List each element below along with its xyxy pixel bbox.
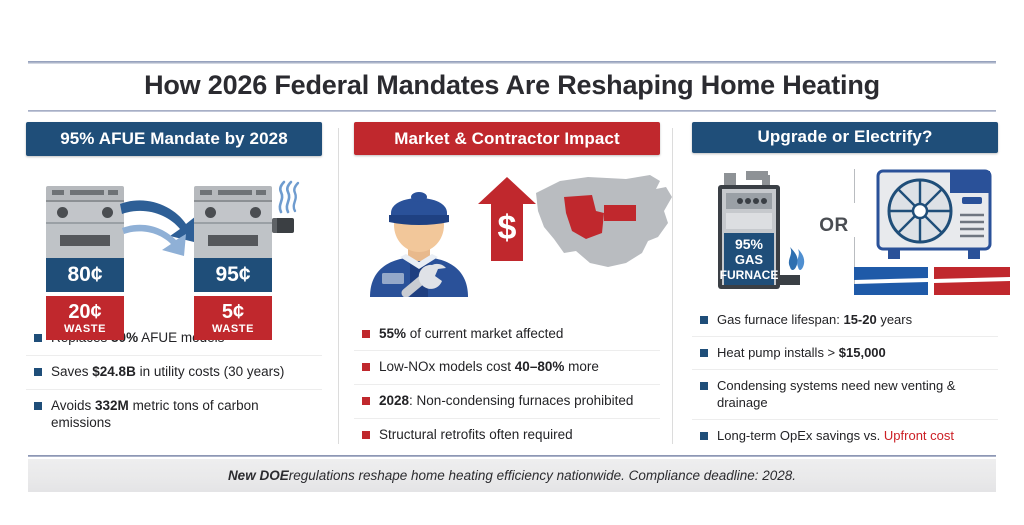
bullet-text: Condensing systems need new venting & dr…	[717, 378, 998, 411]
upgrade-or-electrify-graphic: 95% GAS FURNACE OR	[692, 153, 998, 298]
new-furnace-body: 95¢	[194, 186, 272, 292]
list-item: Long-term OpEx savings vs. Upfront cost	[692, 419, 998, 452]
furnace-mid-panel	[46, 224, 124, 258]
bullet-marker-icon	[362, 363, 370, 371]
efficiency-comparison-bars	[854, 265, 1010, 299]
list-item: Condensing systems need new venting & dr…	[692, 369, 998, 419]
svg-text:GAS: GAS	[735, 252, 764, 267]
bullet-text: Structural retrofits often required	[379, 427, 573, 444]
bullet-text: Long-term OpEx savings vs. Upfront cost	[717, 428, 954, 444]
bullet-marker-icon	[34, 368, 42, 376]
footer-note: New DOE regulations reshape home heating…	[28, 459, 996, 492]
furnace-knob-left-icon	[57, 207, 68, 218]
or-label: OR	[814, 215, 854, 237]
bullet-text: Low-NOx models cost 40–80% more	[379, 359, 599, 376]
new-furnace-unit: 95¢ 5¢ WASTE	[194, 186, 272, 340]
list-item: 55% of current market affected	[354, 318, 660, 351]
contractor-cost-map-graphic: $	[354, 155, 660, 311]
upgrade-bullet-list: Gas furnace lifespan: 15-20 years Heat p…	[692, 298, 998, 452]
list-item: Heat pump installs > $15,000	[692, 336, 998, 369]
old-furnace-efficiency-value: 80¢	[46, 258, 124, 292]
furnace-top-vents-icon	[46, 186, 124, 202]
page-title: How 2026 Federal Mandates Are Reshaping …	[0, 70, 1024, 101]
steam-vent-icon	[276, 180, 302, 214]
list-item: 2028: Non-condensing furnaces prohibited	[354, 384, 660, 418]
column-market-impact: Market & Contractor Impact	[338, 122, 676, 452]
list-item: Low-NOx models cost 40–80% more	[354, 350, 660, 384]
bullet-marker-icon	[34, 402, 42, 410]
heat-pump-unit-icon	[874, 163, 998, 267]
infographic-page: How 2026 Federal Mandates Are Reshaping …	[0, 0, 1024, 525]
new-furnace-waste-value: 5¢	[222, 302, 244, 322]
new-furnace-waste-label: WASTE	[212, 324, 254, 335]
red-up-arrow-dollar-icon: $	[478, 177, 536, 261]
furnace-slot-icon	[208, 235, 258, 246]
gas-furnace-icon: 95% GAS FURNACE	[710, 171, 814, 297]
list-item: Structural retrofits often required	[354, 418, 660, 452]
footer-divider-rule	[28, 455, 996, 457]
market-bullet-list: 55% of current market affected Low-NOx m…	[354, 312, 660, 453]
furnace-slot-icon	[60, 235, 110, 246]
us-map-icon	[530, 167, 678, 279]
bullet-marker-icon	[700, 316, 708, 324]
old-furnace-body: 80¢	[46, 186, 124, 292]
column-header-market-impact: Market & Contractor Impact	[354, 122, 660, 155]
furnace-knob-left-icon	[205, 207, 216, 218]
bullet-text: Avoids 332M metric tons of carbon emissi…	[51, 398, 322, 432]
bullet-text: 55% of current market affected	[379, 326, 563, 343]
furnace-knob-right-icon	[250, 207, 261, 218]
new-furnace-waste-block: 5¢ WASTE	[194, 296, 272, 340]
column-header-afue-mandate: 95% AFUE Mandate by 2028	[26, 122, 322, 156]
svg-text:95%: 95%	[735, 236, 764, 252]
bullet-text: Gas furnace lifespan: 15-20 years	[717, 312, 912, 328]
column-upgrade-electrify: Upgrade or Electrify? 95%	[676, 122, 1024, 452]
bullet-text: Saves $24.8B in utility costs (30 years)	[51, 364, 284, 381]
bullet-text: 2028: Non-condensing furnaces prohibited	[379, 393, 633, 410]
furnace-vent-tab-icon	[108, 190, 118, 195]
furnace-top-vents-icon	[194, 186, 272, 202]
upgrade-arrow-icon	[118, 198, 204, 262]
column-header-upgrade-electrify: Upgrade or Electrify?	[692, 122, 998, 153]
bullet-marker-icon	[362, 397, 370, 405]
new-furnace-efficiency-value: 95¢	[194, 258, 272, 292]
bullet-marker-icon	[34, 334, 42, 342]
footer-lead: New DOE	[228, 468, 289, 483]
bullet-marker-icon	[362, 330, 370, 338]
column-afue-mandate: 95% AFUE Mandate by 2028	[0, 122, 338, 452]
old-furnace-waste-label: WASTE	[64, 324, 106, 335]
old-furnace-waste-block: 20¢ WASTE	[46, 296, 124, 340]
top-divider-rule	[28, 61, 996, 64]
bullet-marker-icon	[700, 382, 708, 390]
exhaust-pipe-icon	[272, 218, 294, 233]
furnace-control-face	[46, 202, 124, 224]
bullet-text: Heat pump installs > $15,000	[717, 345, 886, 361]
furnace-vent-tab-icon	[256, 190, 266, 195]
hvac-technician-icon	[360, 173, 478, 297]
columns-container: 95% AFUE Mandate by 2028	[0, 122, 1024, 452]
svg-text:$: $	[498, 209, 517, 247]
furnace-control-face	[194, 202, 272, 224]
footer-rest: regulations reshape home heating efficie…	[289, 468, 796, 483]
bullet-marker-icon	[362, 431, 370, 439]
list-item: Saves $24.8B in utility costs (30 years)	[26, 355, 322, 389]
old-furnace-unit: 80¢ 20¢ WASTE	[46, 186, 124, 340]
bullet-marker-icon	[700, 349, 708, 357]
furnace-knob-right-icon	[102, 207, 113, 218]
list-item: Avoids 332M metric tons of carbon emissi…	[26, 389, 322, 440]
svg-text:FURNACE: FURNACE	[720, 268, 779, 282]
list-item: Gas furnace lifespan: 15-20 years	[692, 304, 998, 336]
old-furnace-waste-value: 20¢	[68, 302, 101, 322]
furnace-efficiency-comparison-graphic: 80¢ 20¢ WASTE	[26, 156, 322, 316]
title-divider-rule	[28, 110, 996, 112]
furnace-mid-panel	[194, 224, 272, 258]
bullet-marker-icon	[700, 432, 708, 440]
